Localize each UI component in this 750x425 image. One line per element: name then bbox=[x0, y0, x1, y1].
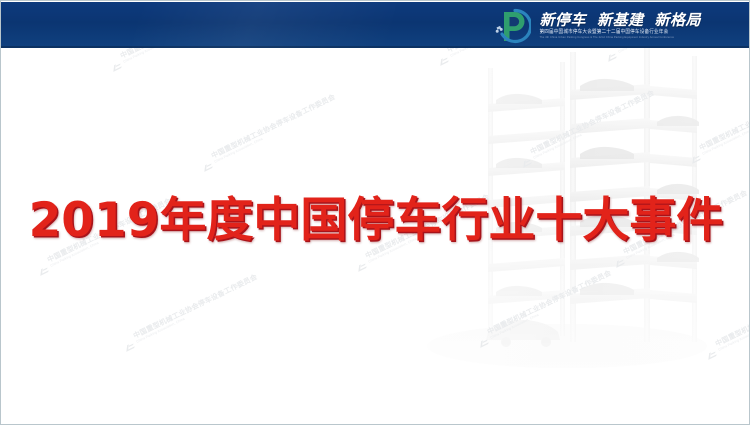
presentation-slide: 新停车 新基建 新格局 第四届中国城市停车大会暨第二十二届中国停车设备行业年会 … bbox=[0, 0, 750, 425]
page-title: 2019年度中国停车行业十大事件 bbox=[29, 196, 724, 245]
cpa-logo-badge bbox=[108, 57, 121, 69]
slogan-word-1: 新停车 bbox=[539, 13, 586, 28]
slide-body: 中国重型机械工业协会停车设备工作委员会China Parking Associa… bbox=[2, 48, 750, 425]
watermark-text-en: China Parking Association, China bbox=[123, 48, 248, 65]
watermark-text-en: China Parking Association, China bbox=[214, 101, 339, 164]
conference-subtitle-en: The 4th China Urban Parking Congress & T… bbox=[539, 36, 701, 40]
cpa-logo-badge bbox=[353, 257, 366, 269]
cpa-logo-badge bbox=[121, 337, 134, 349]
watermark-text-en: China Parking Association, China bbox=[136, 281, 261, 344]
cpa-logo-badge bbox=[199, 157, 212, 169]
watermark-text-cn: 中国重型机械工业协会停车设备工作委员会 bbox=[211, 94, 337, 161]
conference-logo-text: 新停车 新基建 新格局 第四届中国城市停车大会暨第二十二届中国停车设备行业年会 … bbox=[539, 13, 701, 39]
slogan-word-2: 新基建 bbox=[597, 13, 644, 28]
title-block: 2019年度中国停车行业十大事件 bbox=[2, 196, 750, 245]
slide-header-band: 新停车 新基建 新格局 第四届中国城市停车大会暨第二十二届中国停车设备行业年会 … bbox=[1, 2, 749, 48]
slogan-word-3: 新格局 bbox=[654, 13, 701, 28]
watermark-text-en: China Parking Association, China bbox=[718, 289, 750, 352]
watermark: 中国重型机械工业协会停车设备工作委员会China Parking Associa… bbox=[198, 94, 339, 171]
watermark-text-cn: 中国重型机械工业协会停车设备工作委员会 bbox=[120, 48, 246, 61]
conference-logo: 新停车 新基建 新格局 第四届中国城市停车大会暨第二十二届中国停车设备行业年会 … bbox=[491, 7, 701, 45]
conference-slogan: 新停车 新基建 新格局 bbox=[539, 13, 701, 28]
watermark: 中国重型机械工业协会停车设备工作委员会China Parking Associa… bbox=[107, 48, 248, 71]
watermark-text-cn: 中国重型机械工业协会停车设备工作委员会 bbox=[133, 274, 259, 341]
watermark: 中国重型机械工业协会停车设备工作委员会China Parking Associa… bbox=[120, 274, 261, 351]
parking-p-logo-icon bbox=[491, 8, 531, 44]
cpa-logo-badge bbox=[35, 261, 48, 273]
conference-subtitle-cn: 第四届中国城市停车大会暨第二十二届中国停车设备行业年会 bbox=[539, 28, 701, 35]
